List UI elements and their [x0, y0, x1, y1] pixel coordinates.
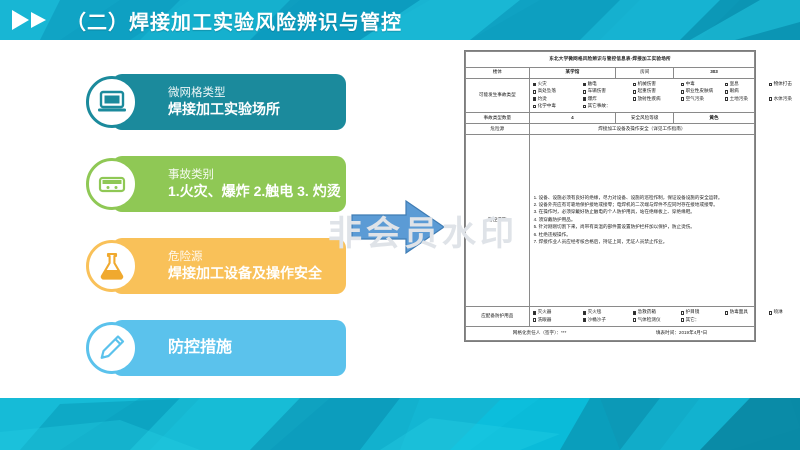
- accident-count-value: 4: [529, 113, 616, 124]
- card-hazard-source-main: 焊接加工设备及操作安全: [168, 265, 346, 283]
- table-title: 东北大学微网格风险辨识与管控信息表-焊接加工实验场所: [466, 52, 755, 68]
- table-footer: 网格化责任人（签字）：*** 填表时间：2019年4月*日: [466, 327, 755, 341]
- checkbox-ppe-other[interactable]: 其它：: [681, 317, 700, 324]
- checkbox-scald[interactable]: 灼烫: [533, 96, 579, 103]
- table-row-measures: 管控措施 1. 设备、设施必须有良好的绝缘，尽力对设备、设施的巡检作制，保证设备…: [466, 135, 755, 307]
- accident-type-row: 高处坠落 车辆伤害 起重伤害 职业性皮肤病 眼病: [533, 88, 751, 95]
- measure-item: 5. 针对刚刚切割下来，尚带有高温的部件置设置防护栏杆加以保护，防止烫伤。: [534, 224, 751, 231]
- fill-date-block: 填表时间：2019年4月*日: [656, 330, 707, 337]
- right-arrow-icon: [348, 198, 448, 256]
- card-microgrid-type-main: 焊接加工实验场所: [168, 101, 346, 119]
- measure-item: 6. 杜绝违规操作。: [534, 232, 751, 239]
- card-accident-category-pill: 事故类别 1.火灾、爆炸 2.触电 3. 灼烫: [112, 156, 346, 212]
- table-row-count-risk: 事故类型数量 4 安全风险等级 黄色: [466, 113, 755, 124]
- checkbox-shower[interactable]: 喷淋: [769, 309, 783, 316]
- table-row-footer: 网格化责任人（签字）：*** 填表时间：2019年4月*日: [466, 327, 755, 341]
- bottom-decoration-band: [0, 398, 800, 450]
- card-control-measures-pill: 防控措施: [112, 320, 346, 376]
- building-label: 楼体: [466, 67, 530, 78]
- risk-level-value: 黄色: [674, 113, 755, 124]
- checkbox-fire-extinguisher[interactable]: 灭火器: [533, 309, 579, 316]
- measure-item: 2. 设备外壳应有可靠地保护接地或接零；电焊机的二次端与焊件不应同时存在接地或接…: [534, 202, 751, 209]
- measure-item: 4. 须穿戴防护用品。: [534, 217, 751, 224]
- checkbox-gas-detector[interactable]: 气体检测仪: [633, 317, 677, 324]
- ppe-row: 灭火器 灭火毯 急救药箱 护目镜 防毒面具 喷淋: [533, 309, 751, 316]
- ppe-row: 洗眼器 沙桶沙子 气体检测仪 其它：: [533, 317, 751, 324]
- card-hazard-source[interactable]: 危险源 焊接加工设备及操作安全: [86, 238, 346, 294]
- room-label: 房间: [616, 67, 674, 78]
- hazard-source-label: 危险源: [466, 124, 530, 135]
- table-row-ppe: 应配备防护用品 灭火器 灭火毯 急救药箱 护目镜 防毒面具 喷淋 洗眼器 沙: [466, 307, 755, 327]
- card-microgrid-type-sub: 微网格类型: [168, 86, 346, 100]
- checkbox-chemical-poisoning[interactable]: 化学中毒: [533, 103, 579, 110]
- ppe-checkbox-group[interactable]: 灭火器 灭火毯 急救药箱 护目镜 防毒面具 喷淋 洗眼器 沙桶沙子 气体检测仪 …: [529, 307, 754, 327]
- card-control-measures[interactable]: 防控措施: [86, 320, 346, 376]
- checkbox-water-pollution[interactable]: 水体污染: [769, 96, 792, 103]
- accident-type-row: 灼烫 爆炸 放射性疾病 空气污染 土地污染 水体污染: [533, 96, 751, 103]
- measure-item: 3. 在操作时，必须穿戴好防止触电的个人防护用具，站在绝缘板上、穿绝缘鞋。: [534, 209, 751, 216]
- checkbox-radiation-disease[interactable]: 放射性疾病: [633, 96, 677, 103]
- signature-block: 网格化责任人（签字）：***: [513, 330, 567, 337]
- accident-type-row: 化学中毒 其它事故：: [533, 103, 751, 110]
- laptop-icon: [86, 76, 138, 128]
- table-row-hazard: 危险源 焊接加工设备及操作安全（详见工作指南）: [466, 124, 755, 135]
- measure-item: 1. 设备、设施必须有良好的绝缘，尽力对设备、设施的巡检作制，保证设备设施的安全…: [534, 195, 751, 202]
- checkbox-lifting-injury[interactable]: 起重伤害: [633, 88, 677, 95]
- checkbox-air-pollution[interactable]: 空气污染: [681, 96, 721, 103]
- card-accident-category[interactable]: 事故类别 1.火灾、爆炸 2.触电 3. 灼烫: [86, 156, 346, 212]
- slide-canvas: （二）焊接加工实验风险辨识与管控 微网格类型 焊接加工实验场所 事故类别 1.火…: [0, 0, 800, 450]
- checkbox-first-aid-kit[interactable]: 急救药箱: [633, 309, 677, 316]
- checkbox-eyewash[interactable]: 洗眼器: [533, 317, 579, 324]
- accident-count-label: 事故类型数量: [466, 113, 530, 124]
- control-measures-label: 管控措施: [466, 135, 530, 307]
- info-card-list: 微网格类型 焊接加工实验场所 事故类别 1.火灾、爆炸 2.触电 3. 灼烫: [86, 74, 346, 376]
- table-title-row: 东北大学微网格风险辨识与管控信息表-焊接加工实验场所: [466, 52, 755, 68]
- signature-label: 网格化责任人（签字）：: [513, 330, 561, 335]
- checkbox-goggles[interactable]: 护目镜: [681, 309, 721, 316]
- checkbox-eye-disease[interactable]: 眼病: [725, 88, 739, 95]
- accident-type-label: 可能发生事故类型: [466, 78, 530, 113]
- card-control-measures-main: 防控措施: [168, 338, 346, 358]
- card-hazard-source-sub: 危险源: [168, 250, 346, 264]
- checkbox-fall-from-height[interactable]: 高处坠落: [533, 88, 579, 95]
- checkbox-land-pollution[interactable]: 土地污染: [725, 96, 765, 103]
- table-row-accident-types: 可能发生事故类型 火灾 触电 机械伤害 中毒 窒息 物体打击 高处坠落 车辆: [466, 78, 755, 113]
- checkbox-sand-bucket[interactable]: 沙桶沙子: [583, 317, 629, 324]
- ppe-label: 应配备防护用品: [466, 307, 530, 327]
- control-measures-value: 1. 设备、设施必须有良好的绝缘，尽力对设备、设施的巡检作制，保证设备设施的安全…: [529, 135, 754, 307]
- checkbox-object-strike[interactable]: 物体打击: [769, 81, 792, 88]
- card-microgrid-type-pill: 微网格类型 焊接加工实验场所: [112, 74, 346, 130]
- building-value: 某学馆: [529, 67, 616, 78]
- card-accident-category-sub: 事故类别: [168, 168, 346, 182]
- pencil-icon: [86, 322, 138, 374]
- fill-date-label: 填表时间：: [656, 330, 679, 335]
- table-row-location: 楼体 某学馆 房间 303: [466, 67, 755, 78]
- battery-icon: [86, 158, 138, 210]
- risk-level-label: 安全风险等级: [616, 113, 674, 124]
- measure-item: 7. 焊接作业人员应经考核合格后，持证上岗，无证人员禁止作业。: [534, 239, 751, 246]
- checkbox-fire-blanket[interactable]: 灭火毯: [583, 309, 629, 316]
- room-value: 303: [674, 67, 755, 78]
- double-triangle-icon: [10, 9, 52, 31]
- checkbox-gas-mask[interactable]: 防毒面具: [725, 309, 765, 316]
- flask-icon: [86, 240, 138, 292]
- card-hazard-source-pill: 危险源 焊接加工设备及操作安全: [112, 238, 346, 294]
- checkbox-explosion[interactable]: 爆炸: [583, 96, 629, 103]
- fill-date-value: 2019年4月*日: [679, 330, 707, 335]
- risk-information-table: 东北大学微网格风险辨识与管控信息表-焊接加工实验场所 楼体 某学馆 房间 303…: [464, 50, 756, 342]
- checkbox-other-accident[interactable]: 其它事故：: [583, 103, 611, 110]
- signature-value: ***: [561, 330, 566, 335]
- slide-title-bar: （二）焊接加工实验风险辨识与管控: [0, 0, 800, 40]
- checkbox-occupational-skin-disease[interactable]: 职业性皮肤病: [681, 88, 721, 95]
- checkbox-vehicle-injury[interactable]: 车辆伤害: [583, 88, 629, 95]
- hazard-source-value: 焊接加工设备及操作安全（详见工作指南）: [529, 124, 754, 135]
- card-microgrid-type[interactable]: 微网格类型 焊接加工实验场所: [86, 74, 346, 130]
- card-accident-category-main: 1.火灾、爆炸 2.触电 3. 灼烫: [168, 183, 346, 201]
- page-title: （二）焊接加工实验风险辨识与管控: [66, 6, 402, 35]
- accident-type-checkbox-group[interactable]: 火灾 触电 机械伤害 中毒 窒息 物体打击 高处坠落 车辆伤害 起重伤害 职业性…: [529, 78, 754, 113]
